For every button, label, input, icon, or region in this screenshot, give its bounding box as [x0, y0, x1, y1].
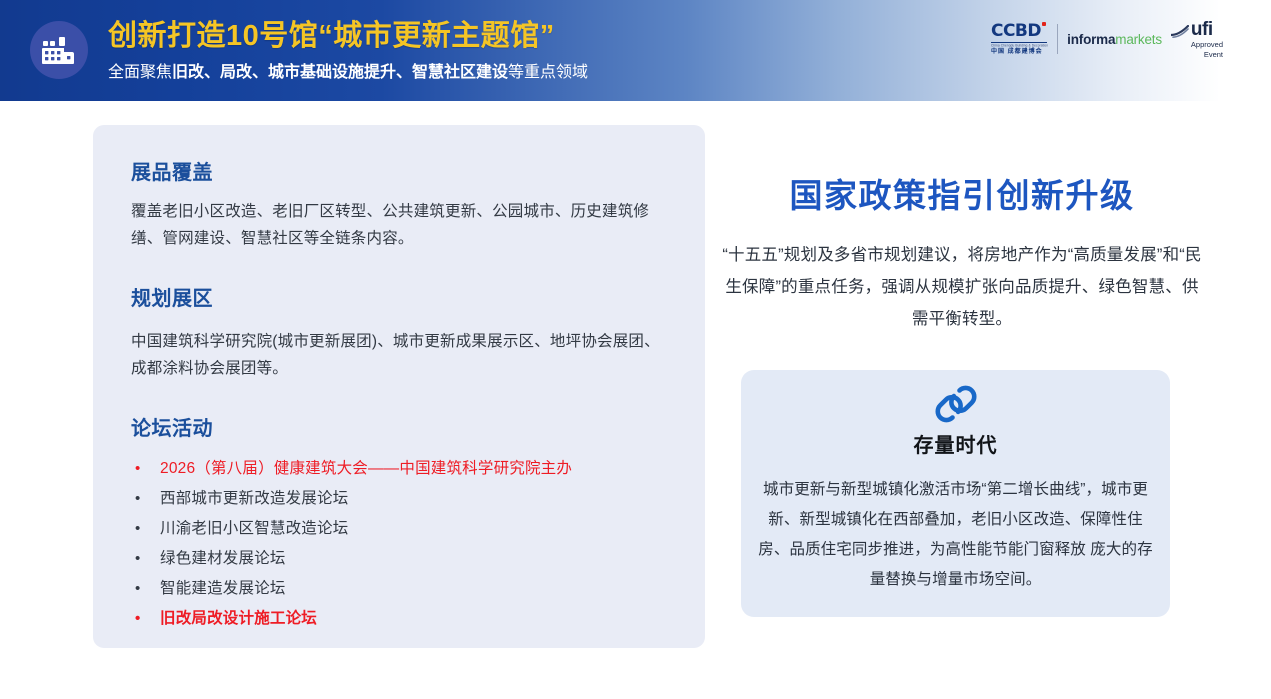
informa-wordmark: informa [1067, 32, 1115, 47]
markets-wordmark: markets [1115, 32, 1162, 47]
page-title: 创新打造10号馆“城市更新主题馆” [108, 16, 1008, 56]
page-subtitle: 全面聚焦旧改、局改、城市基础设施提升、智慧社区建设等重点领域 [108, 62, 1008, 84]
ccbd-logo-dot [1042, 22, 1046, 26]
ufi-swoosh-icon [1171, 25, 1189, 43]
factory-building-icon [30, 21, 88, 79]
header-text-group: 创新打造10号馆“城市更新主题馆” 全面聚焦旧改、局改、城市基础设施提升、智慧社… [108, 16, 1008, 84]
ufi-text-group: ufi Approved Event [1191, 20, 1223, 59]
list-item[interactable]: 川渝老旧小区智慧改造论坛 [131, 514, 675, 544]
link-chain-icon [741, 370, 1170, 424]
slide-root: 创新打造10号馆“城市更新主题馆” 全面聚焦旧改、局改、城市基础设施提升、智慧社… [0, 0, 1271, 699]
stock-era-body: 城市更新与新型城镇化激活市场“第二增长曲线”，城市更新、新型城镇化在西部叠加，老… [757, 475, 1154, 595]
section-title-exhibit-coverage: 展品覆盖 [131, 160, 675, 186]
ccbd-logo-wordmark: CCBD [991, 23, 1041, 40]
policy-heading: 国家政策指引创新升级 [712, 175, 1212, 217]
subtitle-emphasis: 旧改、局改、城市基础设施提升、智慧社区建设 [172, 64, 508, 81]
ccbd-logo: CCBD China Chengdu Building & Decoration… [991, 23, 1048, 56]
section-planned-zones: 规划展区 中国建筑科学研究院(城市更新展团)、城市更新成果展示区、地坪协会展团、… [131, 286, 675, 382]
subtitle-suffix: 等重点领域 [508, 64, 588, 81]
stock-era-title: 存量时代 [741, 433, 1170, 459]
ufi-approved-label: Approved [1191, 40, 1223, 49]
section-title-planned-zones: 规划展区 [131, 286, 675, 312]
subtitle-prefix: 全面聚焦 [108, 64, 172, 81]
list-item[interactable]: 西部城市更新改造发展论坛 [131, 484, 675, 514]
policy-paragraph: “十五五”规划及多省市规划建议，将房地产作为“高质量发展”和“民生保障”的重点任… [718, 239, 1206, 335]
logo-divider [1057, 24, 1058, 54]
informa-markets-logo: informamarkets [1067, 32, 1162, 47]
policy-column: 国家政策指引创新升级 “十五五”规划及多省市规划建议，将房地产作为“高质量发展”… [712, 125, 1212, 335]
exhibition-info-card: 展品覆盖 覆盖老旧小区改造、老旧厂区转型、公共建筑更新、公园城市、历史建筑修缮、… [93, 125, 705, 648]
section-body-exhibit-coverage: 覆盖老旧小区改造、老旧厂区转型、公共建筑更新、公园城市、历史建筑修缮、管网建设、… [131, 198, 675, 252]
list-item[interactable]: 2026（第八届）健康建筑大会——中国建筑科学研究院主办 [131, 454, 675, 484]
section-exhibit-coverage: 展品覆盖 覆盖老旧小区改造、老旧厂区转型、公共建筑更新、公园城市、历史建筑修缮、… [131, 160, 675, 252]
exhibition-info-content: 展品覆盖 覆盖老旧小区改造、老旧厂区转型、公共建筑更新、公园城市、历史建筑修缮、… [131, 160, 675, 634]
section-body-planned-zones: 中国建筑科学研究院(城市更新展团)、城市更新成果展示区、地坪协会展团、成都涂料协… [131, 328, 675, 382]
section-title-forum-activities: 论坛活动 [131, 416, 675, 442]
list-item[interactable]: 旧改局改设计施工论坛 [131, 604, 675, 634]
list-item[interactable]: 智能建造发展论坛 [131, 574, 675, 604]
section-forum-activities: 论坛活动 2026（第八届）健康建筑大会——中国建筑科学研究院主办 西部城市更新… [131, 416, 675, 634]
ufi-event-label: Event [1191, 50, 1223, 59]
list-item[interactable]: 绿色建材发展论坛 [131, 544, 675, 574]
ccbd-logo-chinese: 中国 成都建博会 [991, 49, 1043, 55]
ufi-wordmark: ufi [1191, 20, 1223, 39]
header-banner: 创新打造10号馆“城市更新主题馆” 全面聚焦旧改、局改、城市基础设施提升、智慧社… [0, 0, 1271, 101]
ufi-approved-event-logo: ufi Approved Event [1171, 20, 1223, 59]
logo-strip: CCBD China Chengdu Building & Decoration… [991, 20, 1223, 58]
stock-era-card: 存量时代 城市更新与新型城镇化激活市场“第二增长曲线”，城市更新、新型城镇化在西… [741, 370, 1170, 617]
forum-activity-list: 2026（第八届）健康建筑大会——中国建筑科学研究院主办 西部城市更新改造发展论… [131, 454, 675, 634]
ccbd-logo-english: China Chengdu Building & Decoration [991, 44, 1048, 48]
